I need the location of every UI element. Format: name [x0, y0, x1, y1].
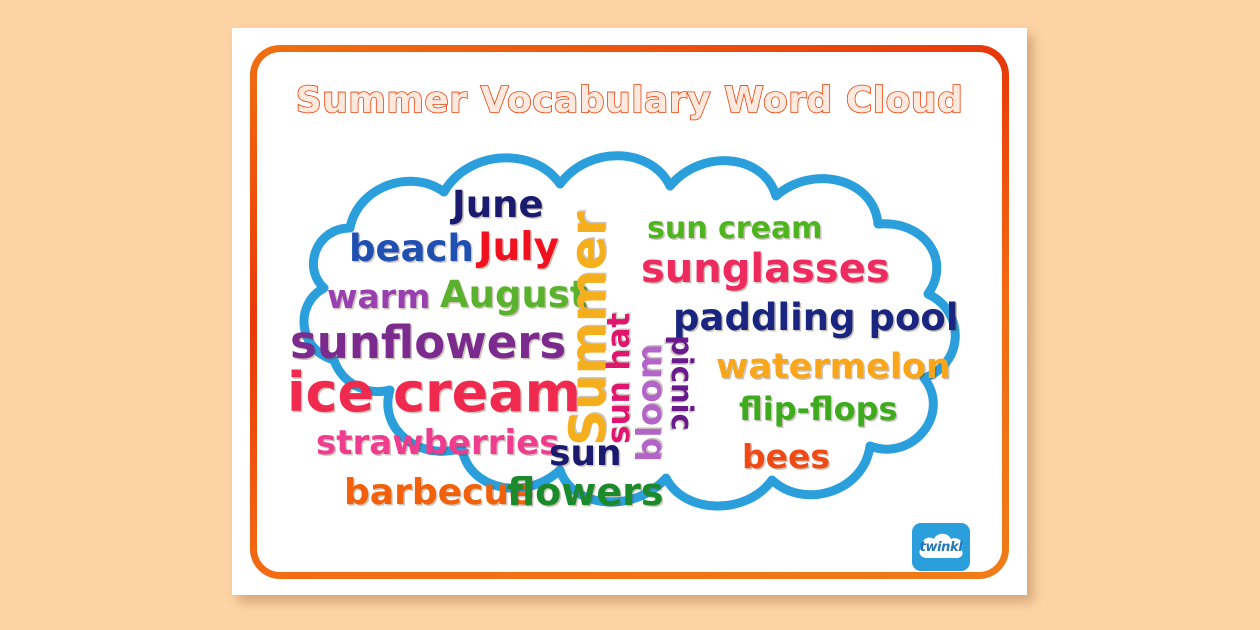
word-cloud-item: ice cream: [287, 366, 581, 420]
word-cloud-item: June: [452, 186, 544, 223]
page-title: Summer Vocabulary Word Cloud: [232, 80, 1027, 121]
word-cloud-item: strawberries: [316, 426, 560, 460]
word-list: JunebeachJulywarmAugustsunflowersice cre…: [272, 128, 992, 518]
word-cloud-item: watermelon: [716, 350, 951, 385]
word-cloud-item: sunflowers: [290, 320, 566, 365]
word-cloud-item: bloom: [633, 344, 667, 462]
word-cloud-item: flip-flops: [739, 393, 898, 425]
poster-page: Summer Vocabulary Word Cloud JunebeachJu…: [232, 28, 1027, 595]
word-cloud-item: sunglasses: [641, 249, 890, 289]
word-cloud-item: warm: [327, 280, 430, 313]
word-cloud-item: barbecue: [344, 475, 533, 511]
twinkl-logo[interactable]: twinkl: [912, 523, 970, 571]
word-cloud-item: sun cream: [647, 214, 822, 244]
word-cloud-item: bees: [742, 440, 830, 473]
poster-stage: Summer Vocabulary Word Cloud JunebeachJu…: [0, 0, 1260, 630]
word-cloud-item: picnic: [667, 335, 696, 431]
word-cloud-item: beach: [349, 230, 474, 267]
word-cloud-item: July: [478, 228, 559, 267]
word-cloud-item: flowers: [507, 473, 664, 511]
word-cloud-region: JunebeachJulywarmAugustsunflowersice cre…: [272, 128, 992, 518]
word-cloud-item: paddling pool: [673, 299, 959, 336]
twinkl-wordmark: twinkl: [912, 523, 970, 571]
